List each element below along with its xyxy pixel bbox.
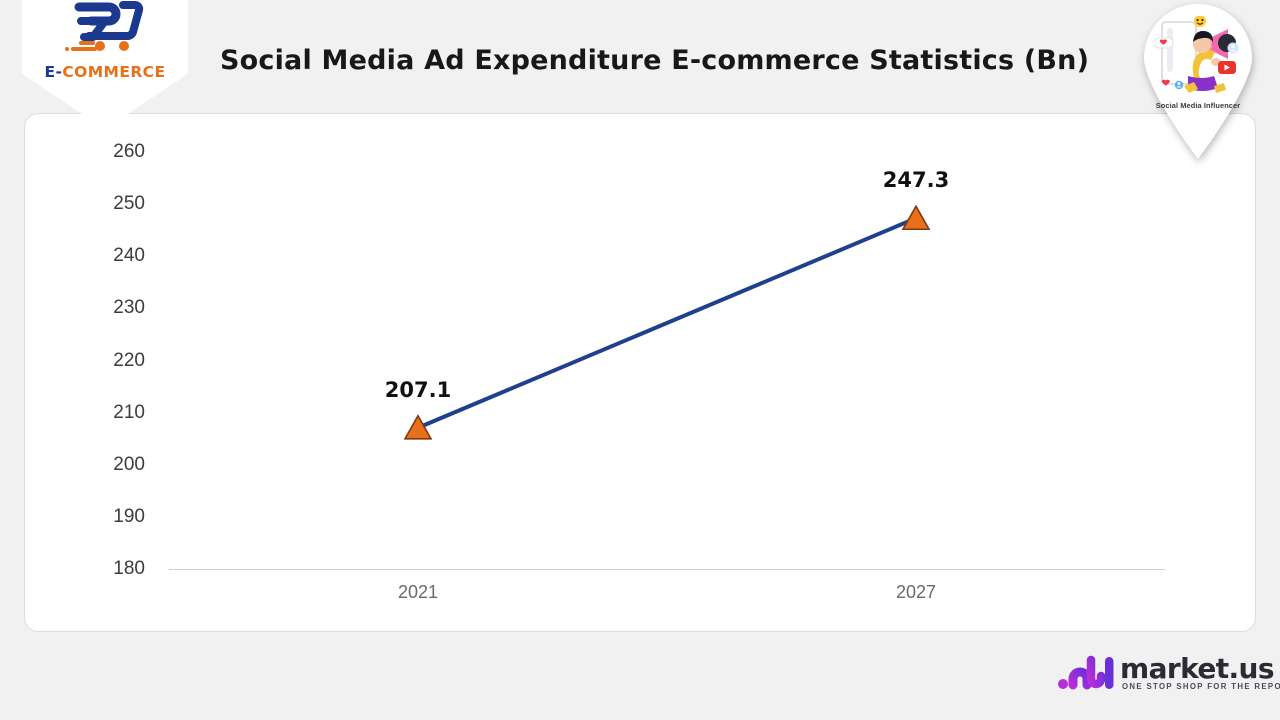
chart-series-layer xyxy=(25,114,1255,631)
y-axis-tick-label: 260 xyxy=(25,141,145,163)
brand-name: market.us xyxy=(1120,652,1274,685)
line-chart-plot: 26025024023022021020019018020212027207.1… xyxy=(25,114,1255,631)
series-line xyxy=(418,218,916,428)
y-axis-tick-label: 200 xyxy=(25,454,145,476)
y-axis-tick-label: 190 xyxy=(25,506,145,528)
data-point-marker[interactable] xyxy=(405,416,431,439)
logo-wordmark: E-COMMERCE xyxy=(45,63,166,81)
market-us-logo: market.us ONE STOP SHOP FOR THE REPORTS xyxy=(1058,652,1258,700)
brand-tagline: ONE STOP SHOP FOR THE REPORTS xyxy=(1122,682,1280,691)
social-media-influencer-pin: Social Media Influencer xyxy=(1144,4,1252,159)
screenshot-root: E-COMMERCE Social Media Ad Expenditure E… xyxy=(0,0,1280,720)
y-axis-tick-label: 240 xyxy=(25,245,145,267)
data-point-label: 247.3 xyxy=(883,168,949,192)
y-axis-tick-label: 220 xyxy=(25,350,145,372)
x-axis-line xyxy=(169,569,1165,570)
y-axis-tick-label: 230 xyxy=(25,297,145,319)
y-axis-tick-label: 210 xyxy=(25,402,145,424)
x-axis-tick-label: 2027 xyxy=(896,582,936,603)
data-point-label: 207.1 xyxy=(385,378,451,402)
social-media-influencer-illustration xyxy=(1154,16,1242,96)
x-axis-tick-label: 2021 xyxy=(398,582,438,603)
header: E-COMMERCE Social Media Ad Expenditure E… xyxy=(0,0,1280,116)
y-axis-tick-label: 250 xyxy=(25,193,145,215)
page-title: Social Media Ad Expenditure E-commerce S… xyxy=(220,45,1089,76)
pin-caption: Social Media Influencer xyxy=(1144,101,1252,110)
data-point-marker[interactable] xyxy=(903,206,929,229)
chart-card: 26025024023022021020019018020212027207.1… xyxy=(24,113,1256,632)
y-axis-tick-label: 180 xyxy=(25,558,145,580)
market-us-bars-icon xyxy=(1058,654,1114,692)
ecommerce-logo-badge: E-COMMERCE xyxy=(22,0,188,129)
shopping-cart-icon xyxy=(63,0,147,60)
logo-word-commerce: COMMERCE xyxy=(62,63,165,81)
logo-word-e: E- xyxy=(45,63,63,81)
